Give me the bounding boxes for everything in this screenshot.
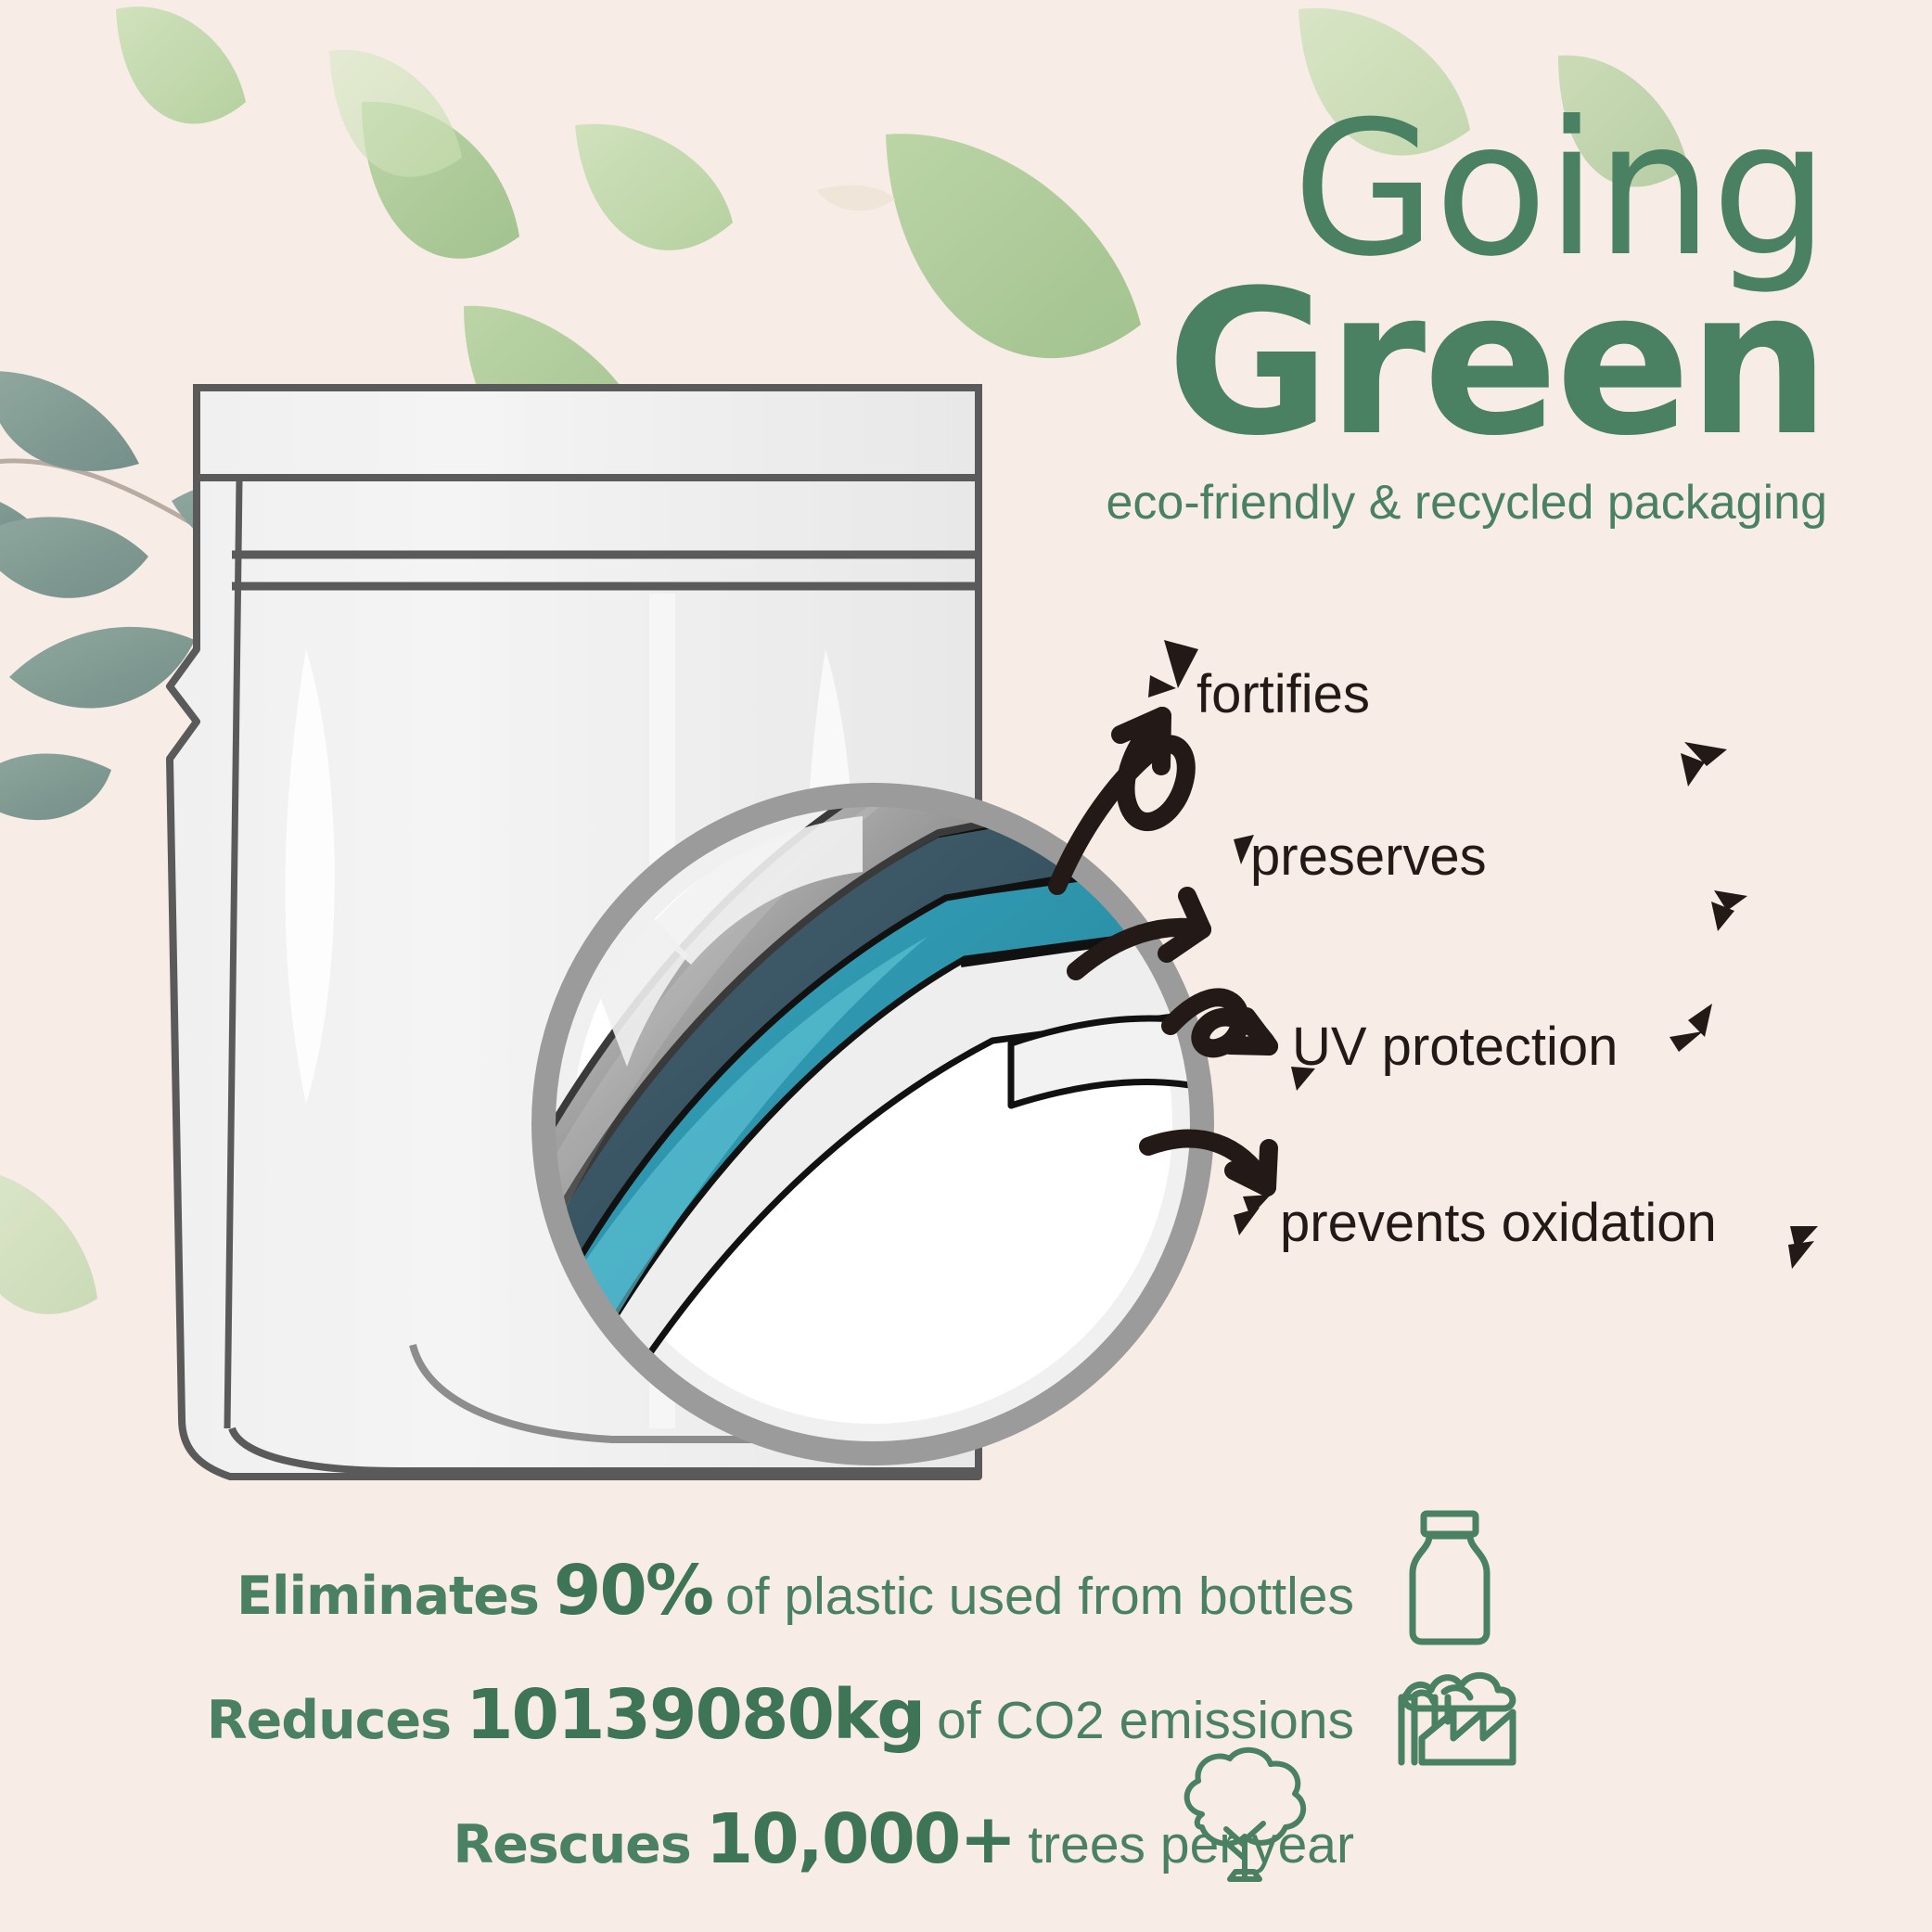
header-block: Going Green eco-friendly & recycled pack…	[1094, 102, 1827, 531]
stat-tail: of plastic used from bottles	[725, 1566, 1354, 1627]
factory-icon	[1394, 1644, 1524, 1769]
stat-lead: Eliminates	[237, 1566, 539, 1627]
infographic-canvas: Going Green eco-friendly & recycled pack…	[0, 0, 1932, 1932]
page-title-line2: Green	[1094, 269, 1827, 458]
page-subtitle: eco-friendly & recycled packaging	[1094, 475, 1827, 531]
sparkle-mark	[1148, 675, 1176, 697]
sparkle-mark	[1788, 1241, 1814, 1269]
bottle-icon	[1394, 1508, 1505, 1647]
stat-lead: Rescues	[453, 1814, 690, 1875]
feature-label-uv-protection: UV protection	[1292, 1016, 1618, 1078]
stat-number: 90%	[554, 1551, 712, 1631]
feature-label-preserves: preserves	[1250, 825, 1487, 888]
feature-label-prevents-oxidation: prevents oxidation	[1280, 1192, 1717, 1254]
stat-number: 10139080kg	[466, 1675, 924, 1755]
sparkle-mark	[1164, 640, 1198, 688]
sparkle-mark	[1670, 1031, 1703, 1052]
tree-icon	[1161, 1742, 1319, 1890]
stat-lead: Reduces	[207, 1690, 451, 1751]
feature-label-fortifies: fortifies	[1196, 663, 1370, 725]
stat-row: Eliminates 90% of plastic used from bott…	[0, 1551, 1410, 1631]
sparkle-mark	[1234, 1208, 1260, 1235]
stat-number: 10,000+	[706, 1799, 1016, 1879]
